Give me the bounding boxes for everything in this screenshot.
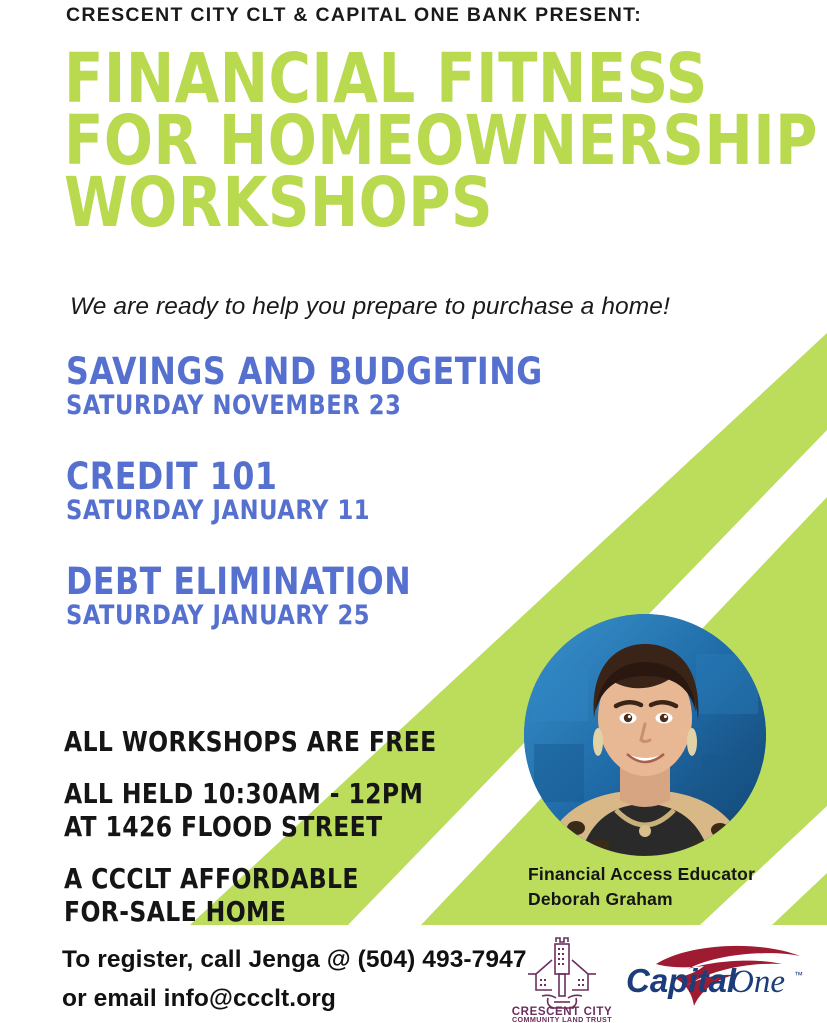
- contact-email-line[interactable]: or email info@ccclt.org: [62, 979, 527, 1018]
- page-title: FINANCIAL FITNESS FOR HOMEOWNERSHIP WORK…: [64, 48, 784, 234]
- session-date: SATURDAY JANUARY 11: [66, 496, 513, 526]
- educator-name: Deborah Graham: [528, 887, 755, 912]
- title-line-3: WORKSHOPS: [64, 172, 734, 234]
- contact-phone-line[interactable]: To register, call Jenga @ (504) 493-7947: [62, 940, 527, 979]
- educator-caption: Financial Access Educator Deborah Graham: [528, 862, 755, 912]
- workshop-session: DEBT ELIMINATION SATURDAY JANUARY 25: [66, 562, 536, 631]
- detail-line: ALL WORKSHOPS ARE FREE: [64, 726, 463, 759]
- capital-one-wordmark-one: One: [730, 964, 785, 1000]
- session-date: SATURDAY JANUARY 25: [66, 601, 513, 631]
- ccclt-logo: CRESCENT CITY COMMUNITY LAND TRUST: [506, 936, 618, 1022]
- detail-group: A CCCLT AFFORDABLE FOR-SALE HOME: [64, 863, 484, 929]
- flyer-poster: CRESCENT CITY CLT & CAPITAL ONE BANK PRE…: [0, 0, 827, 1023]
- detail-group: ALL HELD 10:30AM - 12PM AT 1426 FLOOD ST…: [64, 778, 484, 844]
- contact-info: To register, call Jenga @ (504) 493-7947…: [62, 940, 527, 1018]
- tagline: We are ready to help you prepare to purc…: [70, 293, 670, 321]
- detail-line: A CCCLT AFFORDABLE: [64, 863, 463, 896]
- session-name: DEBT ELIMINATION: [66, 562, 513, 601]
- detail-line: AT 1426 FLOOD STREET: [64, 811, 463, 844]
- session-date: SATURDAY NOVEMBER 23: [66, 391, 513, 421]
- workshop-session: CREDIT 101 SATURDAY JANUARY 11: [66, 457, 536, 526]
- educator-role: Financial Access Educator: [528, 862, 755, 887]
- workshop-details: ALL WORKSHOPS ARE FREE ALL HELD 10:30AM …: [64, 726, 484, 948]
- capital-one-logo: Capital One ™: [622, 944, 818, 1008]
- capital-one-wordmark-capital: Capital: [626, 962, 737, 999]
- avatar: [524, 614, 766, 856]
- detail-line: FOR-SALE HOME: [64, 896, 463, 929]
- workshop-session: SAVINGS AND BUDGETING SATURDAY NOVEMBER …: [66, 352, 536, 421]
- capital-one-trademark: ™: [794, 970, 803, 980]
- detail-group: ALL WORKSHOPS ARE FREE: [64, 726, 484, 759]
- session-name: SAVINGS AND BUDGETING: [66, 352, 513, 391]
- presenter-line: CRESCENT CITY CLT & CAPITAL ONE BANK PRE…: [66, 4, 642, 27]
- session-name: CREDIT 101: [66, 457, 513, 496]
- workshop-session-list: SAVINGS AND BUDGETING SATURDAY NOVEMBER …: [66, 352, 536, 667]
- detail-line: ALL HELD 10:30AM - 12PM: [64, 778, 463, 811]
- ccclt-name-line-2: COMMUNITY LAND TRUST: [512, 1015, 612, 1022]
